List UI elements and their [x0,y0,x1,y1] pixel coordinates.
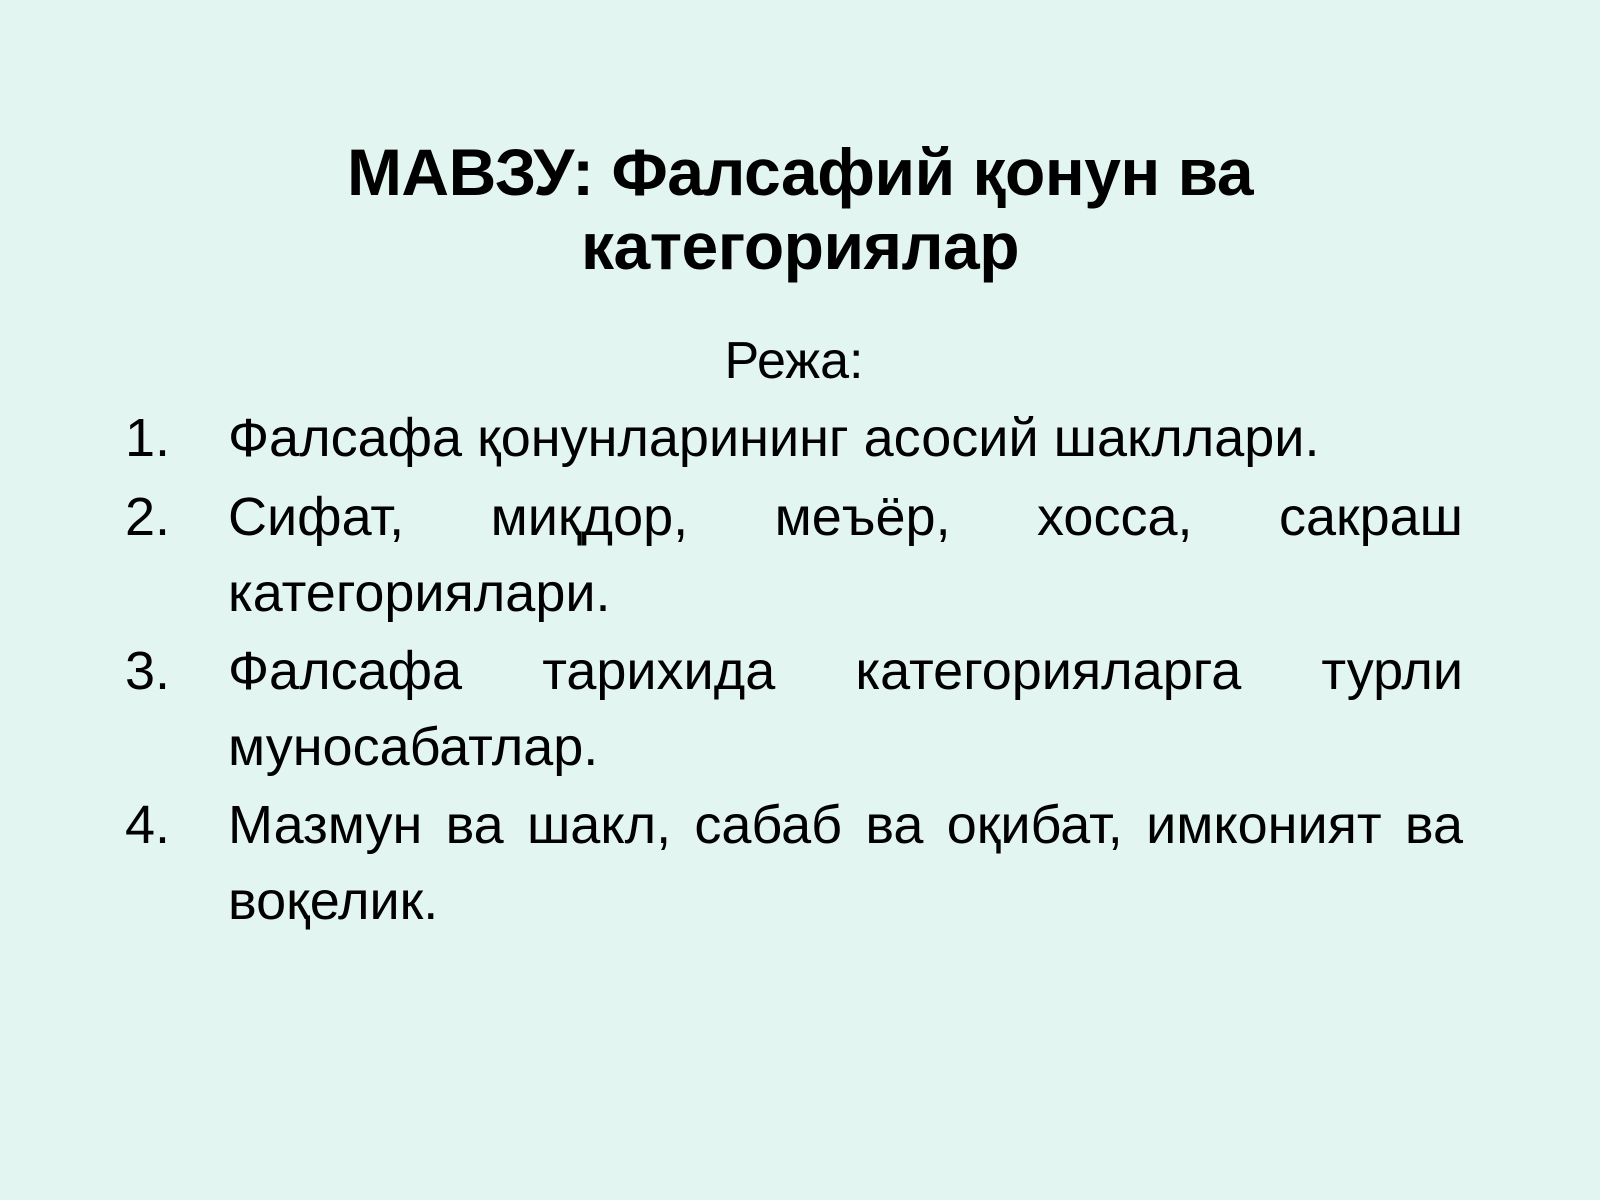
list-item: 3. Фалсафа тарихида категорияларга турли… [125,633,1463,785]
slide-body: Режа: 1. Фалсафа қонунларининг асосий ша… [125,330,1463,941]
list-item-text: Мазмун ва шакл, сабаб ва оқибат, имкония… [228,787,1463,939]
list-item-number: 1. [125,400,203,476]
list-item: 2. Сифат, миқдор, меъёр, хосса, сакраш к… [125,479,1463,631]
list-item: 1. Фалсафа қонунларининг асосий шакллари… [125,400,1463,476]
plan-list: 1. Фалсафа қонунларининг асосий шакллари… [125,400,1463,939]
list-item-number: 3. [125,633,203,709]
list-item-text: Сифат, миқдор, меъёр, хосса, сакраш кате… [228,479,1463,631]
list-item-number: 4. [125,787,203,863]
list-item-text: Фалсафа тарихида категорияларга турли му… [228,633,1463,785]
slide-title: МАВЗУ: Фалсафий қонун ва категориялар [150,136,1450,284]
plan-label: Режа: [125,330,1463,392]
list-item: 4. Мазмун ва шакл, сабаб ва оқибат, имко… [125,787,1463,939]
list-item-number: 2. [125,479,203,555]
presentation-slide: МАВЗУ: Фалсафий қонун ва категориялар Ре… [0,0,1600,1200]
list-item-text: Фалсафа қонунларининг асосий шакллари. [228,400,1463,476]
